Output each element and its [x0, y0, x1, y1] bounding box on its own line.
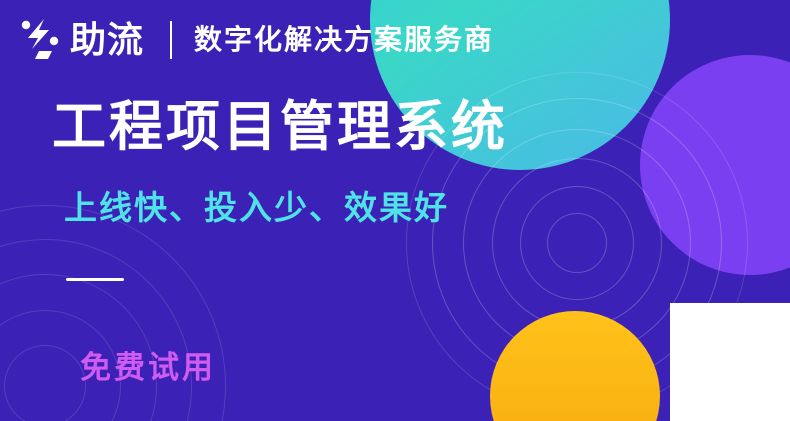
free-trial-button[interactable]: 免费试用	[80, 352, 216, 383]
headline: 工程项目管理系统	[52, 96, 508, 158]
brand-name: 助流	[70, 22, 144, 58]
logo-divider	[170, 21, 172, 59]
divider-rule	[66, 278, 124, 281]
brand-logo-bar: 助流 数字化解决方案服务商	[18, 12, 494, 68]
zhuliu-logo-icon	[18, 17, 64, 63]
promo-banner: 助流 数字化解决方案服务商 工程项目管理系统 上线快、投入少、效果好 免费试用	[0, 0, 790, 421]
concentric-rings-left	[0, 221, 210, 421]
white-corner-block	[670, 303, 790, 421]
brand-tagline: 数字化解决方案服务商	[194, 26, 494, 54]
subheadline: 上线快、投入少、效果好	[64, 188, 449, 228]
